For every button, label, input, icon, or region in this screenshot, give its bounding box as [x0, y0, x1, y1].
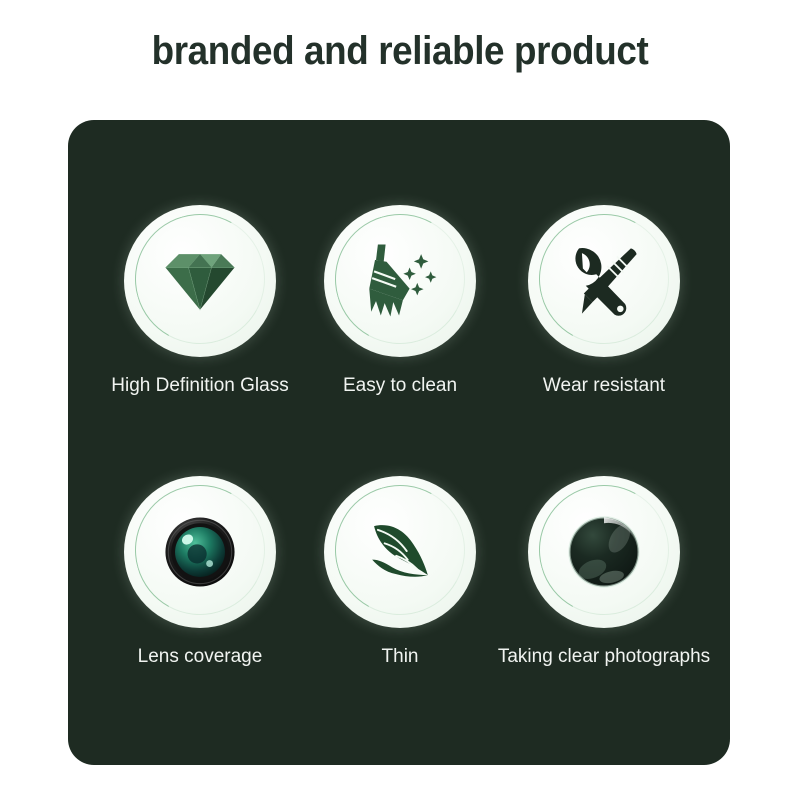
icon-circle — [124, 476, 276, 628]
icon-circle — [324, 205, 476, 357]
camera-lens-icon — [152, 504, 248, 600]
feature-panel: High Definition Glass — [68, 120, 730, 765]
tools-icon — [556, 233, 652, 329]
feature-label: Lens coverage — [90, 646, 310, 669]
product-feature-poster: branded and reliable product — [0, 0, 800, 800]
page-title: branded and reliable product — [32, 28, 768, 74]
feature-item-high-definition-glass[interactable]: High Definition Glass — [90, 205, 310, 398]
icon-circle — [124, 205, 276, 357]
feature-item-wear-resistant[interactable]: Wear resistant — [494, 205, 714, 398]
icon-circle — [528, 476, 680, 628]
glass-dome-icon — [556, 504, 652, 600]
feature-label: High Definition Glass — [90, 375, 310, 398]
icon-circle — [528, 205, 680, 357]
feature-item-easy-to-clean[interactable]: Easy to clean — [290, 205, 510, 398]
feature-grid: High Definition Glass — [68, 120, 730, 765]
broom-icon — [352, 233, 448, 329]
feature-label: Taking clear photographs — [454, 646, 754, 669]
feature-label: Wear resistant — [494, 375, 714, 398]
feature-label: Easy to clean — [290, 375, 510, 398]
feature-item-lens-coverage[interactable]: Lens coverage — [90, 476, 310, 669]
feature-item-taking-clear-photographs[interactable]: Taking clear photographs — [454, 476, 754, 669]
feather-icon — [352, 504, 448, 600]
diamond-icon — [152, 233, 248, 329]
